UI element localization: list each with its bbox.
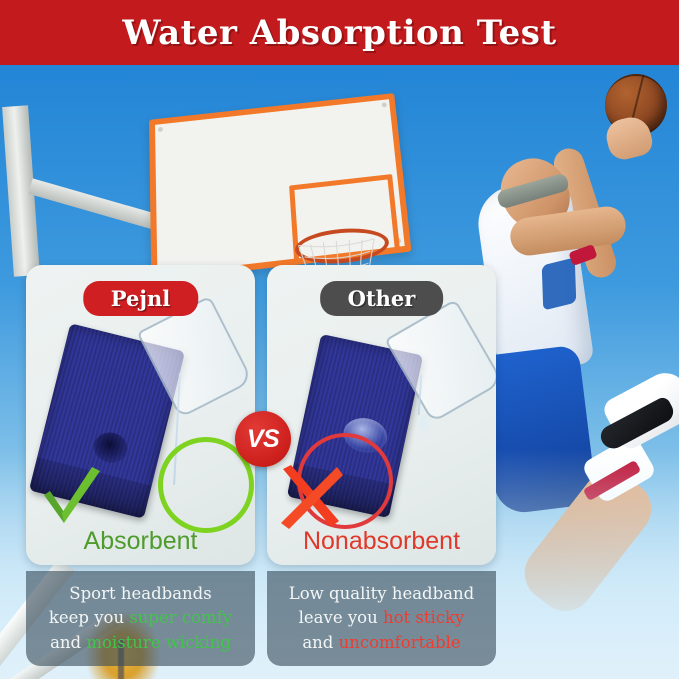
backboard-bolt <box>158 127 163 132</box>
caption-highlight: hot sticky <box>383 608 464 627</box>
caption-text: leave you <box>299 608 383 627</box>
caption-text: Sport headbands <box>69 584 211 603</box>
caption-text: keep you <box>49 608 129 627</box>
caption-text: and <box>302 633 338 652</box>
backboard-arm <box>28 178 157 229</box>
brand-badge: Pejnl <box>83 281 198 316</box>
caption-line: and uncomfortable <box>302 633 460 653</box>
caption-highlight: uncomfortable <box>339 633 461 652</box>
water-splash <box>415 415 431 437</box>
caption-other: Low quality headband leave you hot stick… <box>267 571 496 666</box>
caption-highlight: super comfy <box>129 608 232 627</box>
caption-text: Low quality headband <box>289 584 474 603</box>
vs-badge: VS <box>235 411 291 467</box>
caption-highlight: moisture wicking <box>86 633 231 652</box>
backboard-bolt <box>382 102 387 107</box>
infographic-canvas: Water Absorption Test Pejnl Absorbent Ot… <box>0 0 679 679</box>
caption-line: leave you hot sticky <box>299 608 465 628</box>
header-banner: Water Absorption Test <box>0 0 679 65</box>
jersey-number <box>542 257 577 310</box>
red-cross-icon <box>275 463 345 533</box>
panel-brand[interactable]: Pejnl Absorbent <box>26 265 255 565</box>
caption-brand: Sport headbands keep you super comfy and… <box>26 571 255 666</box>
panel-other[interactable]: Other Nonabsorbent <box>267 265 496 565</box>
caption-row: Sport headbands keep you super comfy and… <box>26 571 496 666</box>
caption-line: Sport headbands <box>69 584 211 604</box>
green-check-icon <box>36 461 108 533</box>
caption-line: Low quality headband <box>289 584 474 604</box>
page-title: Water Absorption Test <box>122 13 556 53</box>
caption-line: and moisture wicking <box>50 633 231 653</box>
caption-line: keep you super comfy <box>49 608 232 628</box>
caption-text: and <box>50 633 86 652</box>
other-badge: Other <box>320 281 444 316</box>
